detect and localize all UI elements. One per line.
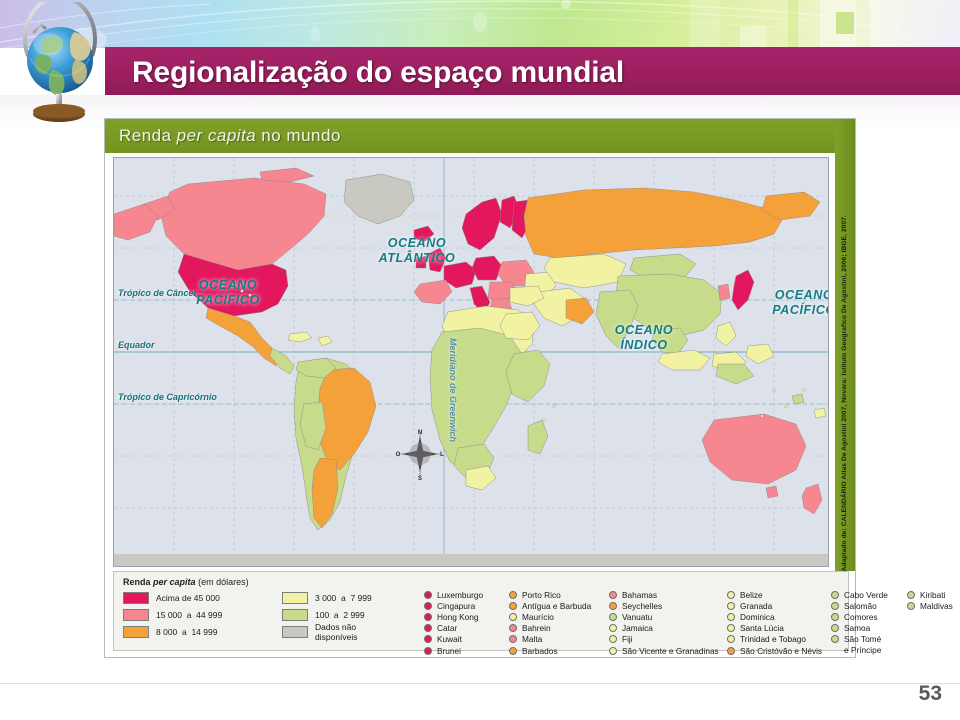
compass-w-label: O [396,452,401,458]
legend-country-label-continued: e Príncipe [831,645,888,655]
legend-country-label: Belize [740,590,763,600]
legend-country-dot [509,591,517,599]
legend-range-label: 15 000 a 44 999 [156,610,222,620]
legend-country-dot [424,613,432,621]
ocean-indico-line1: OCEANO [615,323,673,337]
legend-country-row: Fiji [609,634,719,645]
ocean-pacifico-oeste-line2: PACÍFICO [196,293,260,307]
legend-country-dot [727,613,735,621]
compass-s-label: S [418,476,422,482]
legend-country-label: Catar [437,623,457,633]
legend-country-row: Maurício [509,611,591,622]
legend-range-row: 100 a 2 999 [282,607,372,622]
legend-country-row: Samoa [831,623,888,634]
ocean-label-pacifico-oeste: OCEANO PACÍFICO [174,278,282,308]
legend-color-swatch [123,626,149,638]
legend-countries-col-1: LuxemburgoCingapuraHong KongCatarKuwaitB… [424,589,483,656]
legend-title-pre: Renda [123,577,151,587]
legend-country-row: Trinidad e Tobago [727,634,822,645]
legend-country-dot [609,635,617,643]
legend-country-dot [424,647,432,655]
legend-country-label: São Vicente e Granadinas [622,646,719,656]
legend-country-label: Malta [522,634,542,644]
legend-country-row: Granada [727,600,822,611]
legend-country-label: Antígua e Barbuda [522,601,591,611]
map-title: Renda per capita no mundo [119,125,341,147]
legend-range-label: 3 000 a 7 999 [315,593,372,603]
legend-country-label: Cingapura [437,601,475,611]
legend-range-row: 15 000 a 44 999 [123,607,222,622]
legend-country-dot [907,602,915,610]
legend-country-label: Seychelles [622,601,662,611]
banner-color-blocks [0,0,960,48]
legend-countries-col-2: Porto RicoAntígua e BarbudaMaurícioBahre… [509,589,591,656]
legend-country-row: Malta [509,634,591,645]
legend-country-label: Porto Rico [522,590,561,600]
legend-country-label: Granada [740,601,772,611]
legend-country-dot [509,602,517,610]
map-title-italic: per capita [177,126,257,146]
compass-e-label: L [440,452,444,458]
legend-range-row: 3 000 a 7 999 [282,590,372,605]
legend-country-row: Cabo Verde [831,589,888,600]
legend-country-label: Fiji [622,634,633,644]
legend-country-dot [424,624,432,632]
ocean-label-indico: OCEANO ÍNDICO [594,323,694,353]
legend-range-label: Dados não disponíveis [315,622,358,642]
legend-country-label: Luxemburgo [437,590,483,600]
ocean-indico-line2: ÍNDICO [620,338,667,352]
legend-country-row: Brunei [424,645,483,656]
legend-country-dot [831,602,839,610]
ocean-pacifico-leste-line2: PACÍFICO [772,303,829,317]
map-title-post: no mundo [261,126,341,146]
map-source-attribution: Adaptado de: CALENDÁRIO Atlas De Agostin… [836,119,854,571]
legend-country-dot [609,647,617,655]
world-map-canvas[interactable]: OCEANO ATLÂNTICO OCEANO PACÍFICO OCEANO … [113,157,829,567]
legend-country-label: Barbados [522,646,558,656]
legend-country-label: Maldivas [920,601,953,611]
legend-country-row: Salomão [831,600,888,611]
legend-ranges-col-1: Acima de 45 00015 000 a 44 9998 000 a 14… [123,590,222,641]
legend-range-row: Acima de 45 000 [123,590,222,605]
world-map-graphic [114,158,828,566]
map-title-pre: Renda [119,126,172,146]
compass-n-label: N [418,430,422,436]
legend-country-row: Catar [424,623,483,634]
legend-country-label: Vanuatu [622,612,652,622]
ocean-atlantico-line2: ATLÂNTICO [379,251,456,265]
legend-range-label: 8 000 a 14 999 [156,627,217,637]
legend-country-row: Antígua e Barbuda [509,600,591,611]
legend-country-label: São Tomé [844,634,881,644]
legend-country-label: Kuwait [437,634,462,644]
legend-country-dot [609,624,617,632]
legend-country-row: São Tomé [831,634,888,645]
ocean-label-atlantico: OCEANO ATLÂNTICO [362,236,472,266]
legend-country-dot [609,602,617,610]
legend-title: Renda per capita (em dólares) [123,577,249,587]
legend-country-dot [424,635,432,643]
legend-range-label: 100 a 2 999 [315,610,365,620]
map-legend: Renda per capita (em dólares) Acima de 4… [113,571,849,651]
legend-country-row: Belize [727,589,822,600]
legend-country-row: Porto Rico [509,589,591,600]
legend-color-swatch [123,592,149,604]
legend-country-row: Santa Lúcia [727,623,822,634]
legend-country-row: Luxemburgo [424,589,483,600]
legend-color-swatch [123,609,149,621]
page-number: 53 [919,682,942,706]
legend-country-dot [609,591,617,599]
legend-color-swatch [282,609,308,621]
legend-country-dot [424,591,432,599]
legend-country-label: Bahamas [622,590,657,600]
legend-country-dot [424,602,432,610]
legend-country-label: Cabo Verde [844,590,888,600]
legend-country-dot [727,635,735,643]
legend-country-dot [727,647,735,655]
legend-country-row: São Cristóvão e Névis [727,645,822,656]
meridian-label: Meridiano de Greenwich [448,338,458,442]
legend-country-row: Comores [831,611,888,622]
legend-country-dot [727,624,735,632]
page-title: Regionalização do espaço mundial [132,51,932,95]
legend-range-row: 8 000 a 14 999 [123,624,222,639]
legend-country-row: Dominica [727,611,822,622]
legend-country-dot [509,624,517,632]
legend-country-label: Jamaica [622,623,653,633]
legend-color-swatch [282,626,308,638]
legend-country-label: Kiribati [920,590,945,600]
legend-country-dot [727,602,735,610]
legend-country-label: Brunei [437,646,461,656]
legend-country-dot [831,624,839,632]
legend-country-label: Santa Lúcia [740,623,784,633]
source-text-label: Adaptado de: CALENDÁRIO Atlas De Agostin… [836,213,854,571]
map-figure: Renda per capita no mundo Adaptado de: C… [104,118,856,658]
legend-country-dot [831,613,839,621]
legend-country-row: Kuwait [424,634,483,645]
legend-ranges-col-2: 3 000 a 7 999100 a 2 999Dados não dispon… [282,590,372,641]
legend-title-post: (em dólares) [198,577,249,587]
ocean-pacifico-leste-line1: OCEANO [775,288,829,302]
legend-country-label: Samoa [844,623,870,633]
globe-icon [4,2,114,132]
legend-country-label: Hong Kong [437,612,479,622]
legend-country-dot [831,591,839,599]
legend-country-label: Bahrein [522,623,551,633]
legend-country-row: Hong Kong [424,611,483,622]
decorative-top-banner [0,0,960,48]
compass-rose-icon: N S L O [394,426,446,482]
legend-country-dot [509,647,517,655]
legend-country-dot [727,591,735,599]
legend-country-label: Comores [844,612,878,622]
legend-range-label: Acima de 45 000 [156,593,220,603]
legend-countries-col-4: BelizeGranadaDominicaSanta LúciaTrinidad… [727,589,822,656]
legend-country-dot [509,635,517,643]
legend-countries-col-3: BahamasSeychellesVanuatuJamaicaFijiSão V… [609,589,719,656]
legend-color-swatch [282,592,308,604]
legend-country-label: Maurício [522,612,554,622]
footer-divider [0,683,960,684]
legend-country-label: Dominica [740,612,775,622]
ocean-pacifico-oeste-line1: OCEANO [199,278,257,292]
legend-country-label: Trinidad e Tobago [740,634,806,644]
legend-country-label: Salomão [844,601,877,611]
legend-range-row: Dados não disponíveis [282,624,372,639]
legend-country-dot [509,613,517,621]
legend-country-row: Jamaica [609,623,719,634]
legend-country-dot [831,635,839,643]
legend-country-row: São Vicente e Granadinas [609,645,719,656]
legend-country-dot [907,591,915,599]
legend-country-row: Bahrein [509,623,591,634]
legend-country-row: Seychelles [609,600,719,611]
legend-country-row: Bahamas [609,589,719,600]
legend-country-label: São Cristóvão e Névis [740,646,822,656]
legend-country-row: Vanuatu [609,611,719,622]
legend-country-row: Cingapura [424,600,483,611]
legend-country-row: Barbados [509,645,591,656]
legend-countries-col-5: Cabo VerdeSalomãoComoresSamoaSão Tomée P… [831,589,888,655]
legend-country-row: Maldivas [907,600,953,611]
legend-title-italic: per capita [153,577,196,587]
ocean-label-pacifico-leste: OCEANO PACÍFICO [754,288,829,318]
legend-country-row: Kiribati [907,589,953,600]
legend-countries-col-6: KiribatiMaldivas [907,589,953,611]
ocean-atlantico-line1: OCEANO [388,236,446,250]
legend-country-dot [609,613,617,621]
